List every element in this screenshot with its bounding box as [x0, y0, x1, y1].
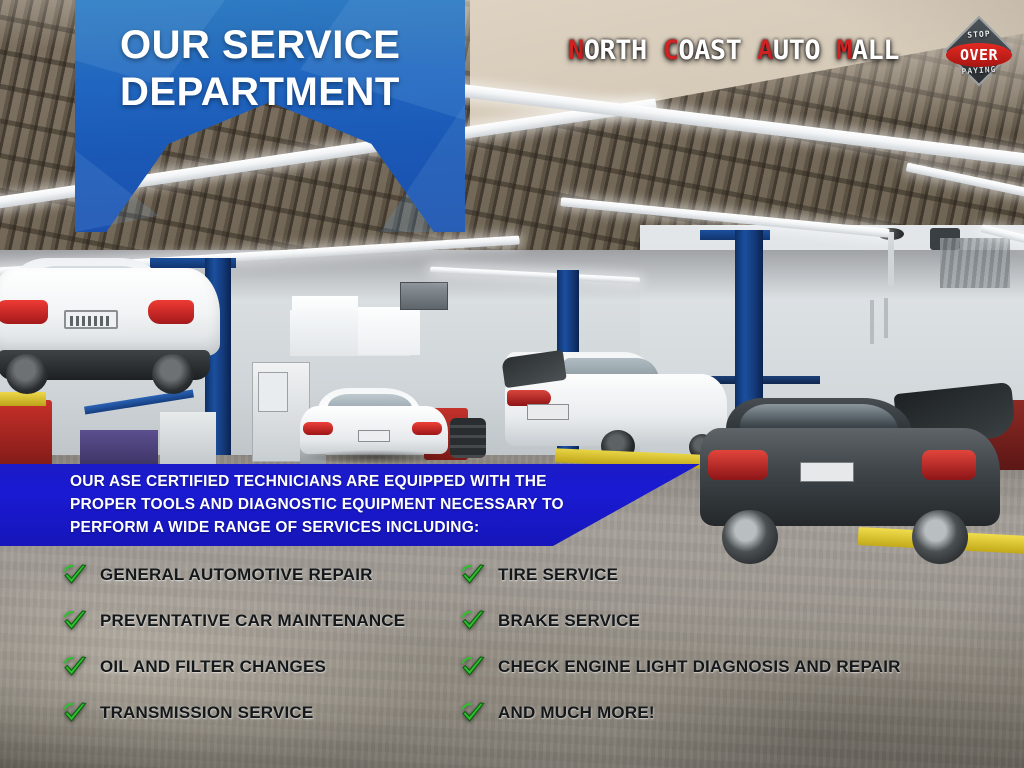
services-left-column: GENERAL AUTOMOTIVE REPAIRPREVENTATIVE CA…	[62, 552, 462, 736]
intro-banner-text: OUR ASE CERTIFIED TECHNICIANS ARE EQUIPP…	[70, 471, 615, 539]
service-list-item-label: TIRE SERVICE	[498, 565, 618, 585]
service-list-item-label: BRAKE SERVICE	[498, 611, 640, 631]
page-title-line-1: OUR SERVICE	[120, 22, 450, 69]
stop-over-paying-badge[interactable]: STOP OVER PAYING	[946, 24, 1012, 86]
service-list-item: TIRE SERVICE	[460, 552, 980, 598]
service-list-item-label: OIL AND FILTER CHANGES	[100, 657, 326, 677]
green-check-icon	[460, 608, 486, 634]
service-list-item: TRANSMISSION SERVICE	[62, 690, 462, 736]
green-check-icon	[62, 608, 88, 634]
service-list-item-label: PREVENTATIVE CAR MAINTENANCE	[100, 611, 405, 631]
service-list-item: OIL AND FILTER CHANGES	[62, 644, 462, 690]
service-list-item: AND MUCH MORE!	[460, 690, 980, 736]
green-check-icon	[62, 562, 88, 588]
green-check-icon	[62, 654, 88, 680]
service-list-item-label: AND MUCH MORE!	[498, 703, 655, 723]
service-list-item: PREVENTATIVE CAR MAINTENANCE	[62, 598, 462, 644]
logo-word-4: MALL	[836, 35, 899, 66]
service-list-item-label: GENERAL AUTOMOTIVE REPAIR	[100, 565, 373, 585]
service-list-item: GENERAL AUTOMOTIVE REPAIR	[62, 552, 462, 598]
services-right-column: TIRE SERVICEBRAKE SERVICECHECK ENGINE LI…	[460, 552, 980, 736]
service-department-graphic: OUR SERVICE DEPARTMENT NORTH COAST AUTO …	[0, 0, 1024, 768]
page-title: OUR SERVICE DEPARTMENT	[120, 22, 450, 116]
green-check-icon	[460, 700, 486, 726]
service-list-item: CHECK ENGINE LIGHT DIAGNOSIS AND REPAIR	[460, 644, 980, 690]
page-title-line-2: DEPARTMENT	[120, 69, 450, 116]
green-check-icon	[460, 654, 486, 680]
logo-word-2: COAST	[663, 35, 742, 66]
logo-word-3: AUTO	[757, 35, 820, 66]
service-list-item-label: CHECK ENGINE LIGHT DIAGNOSIS AND REPAIR	[498, 657, 901, 677]
brand-logo[interactable]: NORTH COAST AUTO MALL	[568, 28, 899, 72]
badge-line-2: OVER	[946, 46, 1012, 64]
services-lists: GENERAL AUTOMOTIVE REPAIRPREVENTATIVE CA…	[0, 552, 1024, 738]
green-check-icon	[62, 700, 88, 726]
green-check-icon	[460, 562, 486, 588]
service-list-item: BRAKE SERVICE	[460, 598, 980, 644]
logo-word-1: NORTH	[568, 35, 647, 66]
brand-logo-text: NORTH COAST AUTO MALL	[568, 37, 899, 64]
service-list-item-label: TRANSMISSION SERVICE	[100, 703, 313, 723]
